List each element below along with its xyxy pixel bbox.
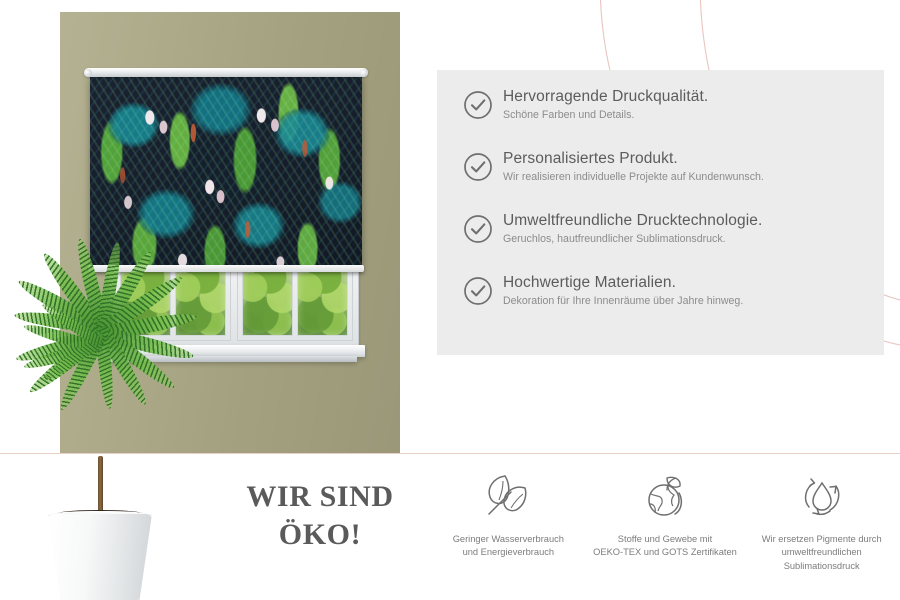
- feature-text: Personalisiertes Produkt. Wir realisiere…: [503, 150, 764, 184]
- feature-item: Personalisiertes Produkt. Wir realisiere…: [463, 150, 873, 187]
- check-circle-icon: [463, 90, 493, 125]
- potted-palm-plant: [2, 268, 192, 600]
- feature-title: Personalisiertes Produkt.: [503, 150, 764, 169]
- check-circle-icon: [463, 276, 493, 311]
- promo-graphic: Hervorragende Druckqualität. Schöne Farb…: [0, 0, 900, 600]
- eco-caption: Stoffe und Gewebe mitOEKO-TEX und GOTS Z…: [593, 533, 738, 560]
- eco-item: Stoffe und Gewebe mitOEKO-TEX und GOTS Z…: [587, 470, 744, 590]
- eco-headline-line2: ÖKO!: [200, 516, 440, 554]
- roller-blind-cap-left: [84, 69, 92, 77]
- section-divider: [0, 453, 900, 454]
- feature-item: Hervorragende Druckqualität. Schöne Farb…: [463, 88, 873, 125]
- feature-subtitle: Schöne Farben und Details.: [503, 108, 708, 122]
- feature-title: Hochwertige Materialien.: [503, 274, 743, 293]
- water-drop-recycle-icon: [795, 470, 849, 527]
- feature-text: Hervorragende Druckqualität. Schöne Farb…: [503, 88, 708, 122]
- eco-caption: Geringer Wasserverbrauchund Energieverbr…: [436, 533, 581, 560]
- check-circle-icon: [463, 152, 493, 187]
- leaves-icon: [481, 470, 535, 527]
- eco-item: Geringer Wasserverbrauchund Energieverbr…: [430, 470, 587, 590]
- feature-subtitle: Dekoration für Ihre Innenräume über Jahr…: [503, 294, 743, 308]
- white-ceramic-pot: [48, 514, 152, 600]
- features-list: Hervorragende Druckqualität. Schöne Farb…: [463, 88, 873, 311]
- feature-item: Hochwertige Materialien. Dekoration für …: [463, 274, 873, 311]
- eco-caption: Wir ersetzen Pigmente durchumweltfreundl…: [749, 533, 894, 573]
- roller-blind-cap-right: [360, 69, 368, 77]
- roller-blind-fabric: [90, 75, 362, 268]
- feature-text: Hochwertige Materialien. Dekoration für …: [503, 274, 743, 308]
- eco-headline-line1: WIR SIND: [200, 478, 440, 516]
- tropical-pattern-flowers: [90, 75, 362, 268]
- eco-headline: WIR SIND ÖKO!: [200, 478, 440, 554]
- feature-subtitle: Geruchlos, hautfreundlicher Sublimations…: [503, 232, 762, 246]
- feature-subtitle: Wir realisieren individuelle Projekte au…: [503, 170, 764, 184]
- palm-canopy: [2, 268, 192, 528]
- feature-title: Umweltfreundliche Drucktechnologie.: [503, 212, 762, 231]
- globe-leaf-icon: [638, 470, 692, 527]
- check-circle-icon: [463, 214, 493, 249]
- feature-item: Umweltfreundliche Drucktechnologie. Geru…: [463, 212, 873, 249]
- palm-trunk: [98, 456, 103, 514]
- roller-blind-bar: [84, 68, 368, 77]
- feature-title: Hervorragende Druckqualität.: [503, 88, 708, 107]
- eco-benefits-list: Geringer Wasserverbrauchund Energieverbr…: [430, 470, 900, 590]
- feature-text: Umweltfreundliche Drucktechnologie. Geru…: [503, 212, 762, 246]
- eco-item: Wir ersetzen Pigmente durchumweltfreundl…: [743, 470, 900, 590]
- roller-blind: [90, 68, 362, 268]
